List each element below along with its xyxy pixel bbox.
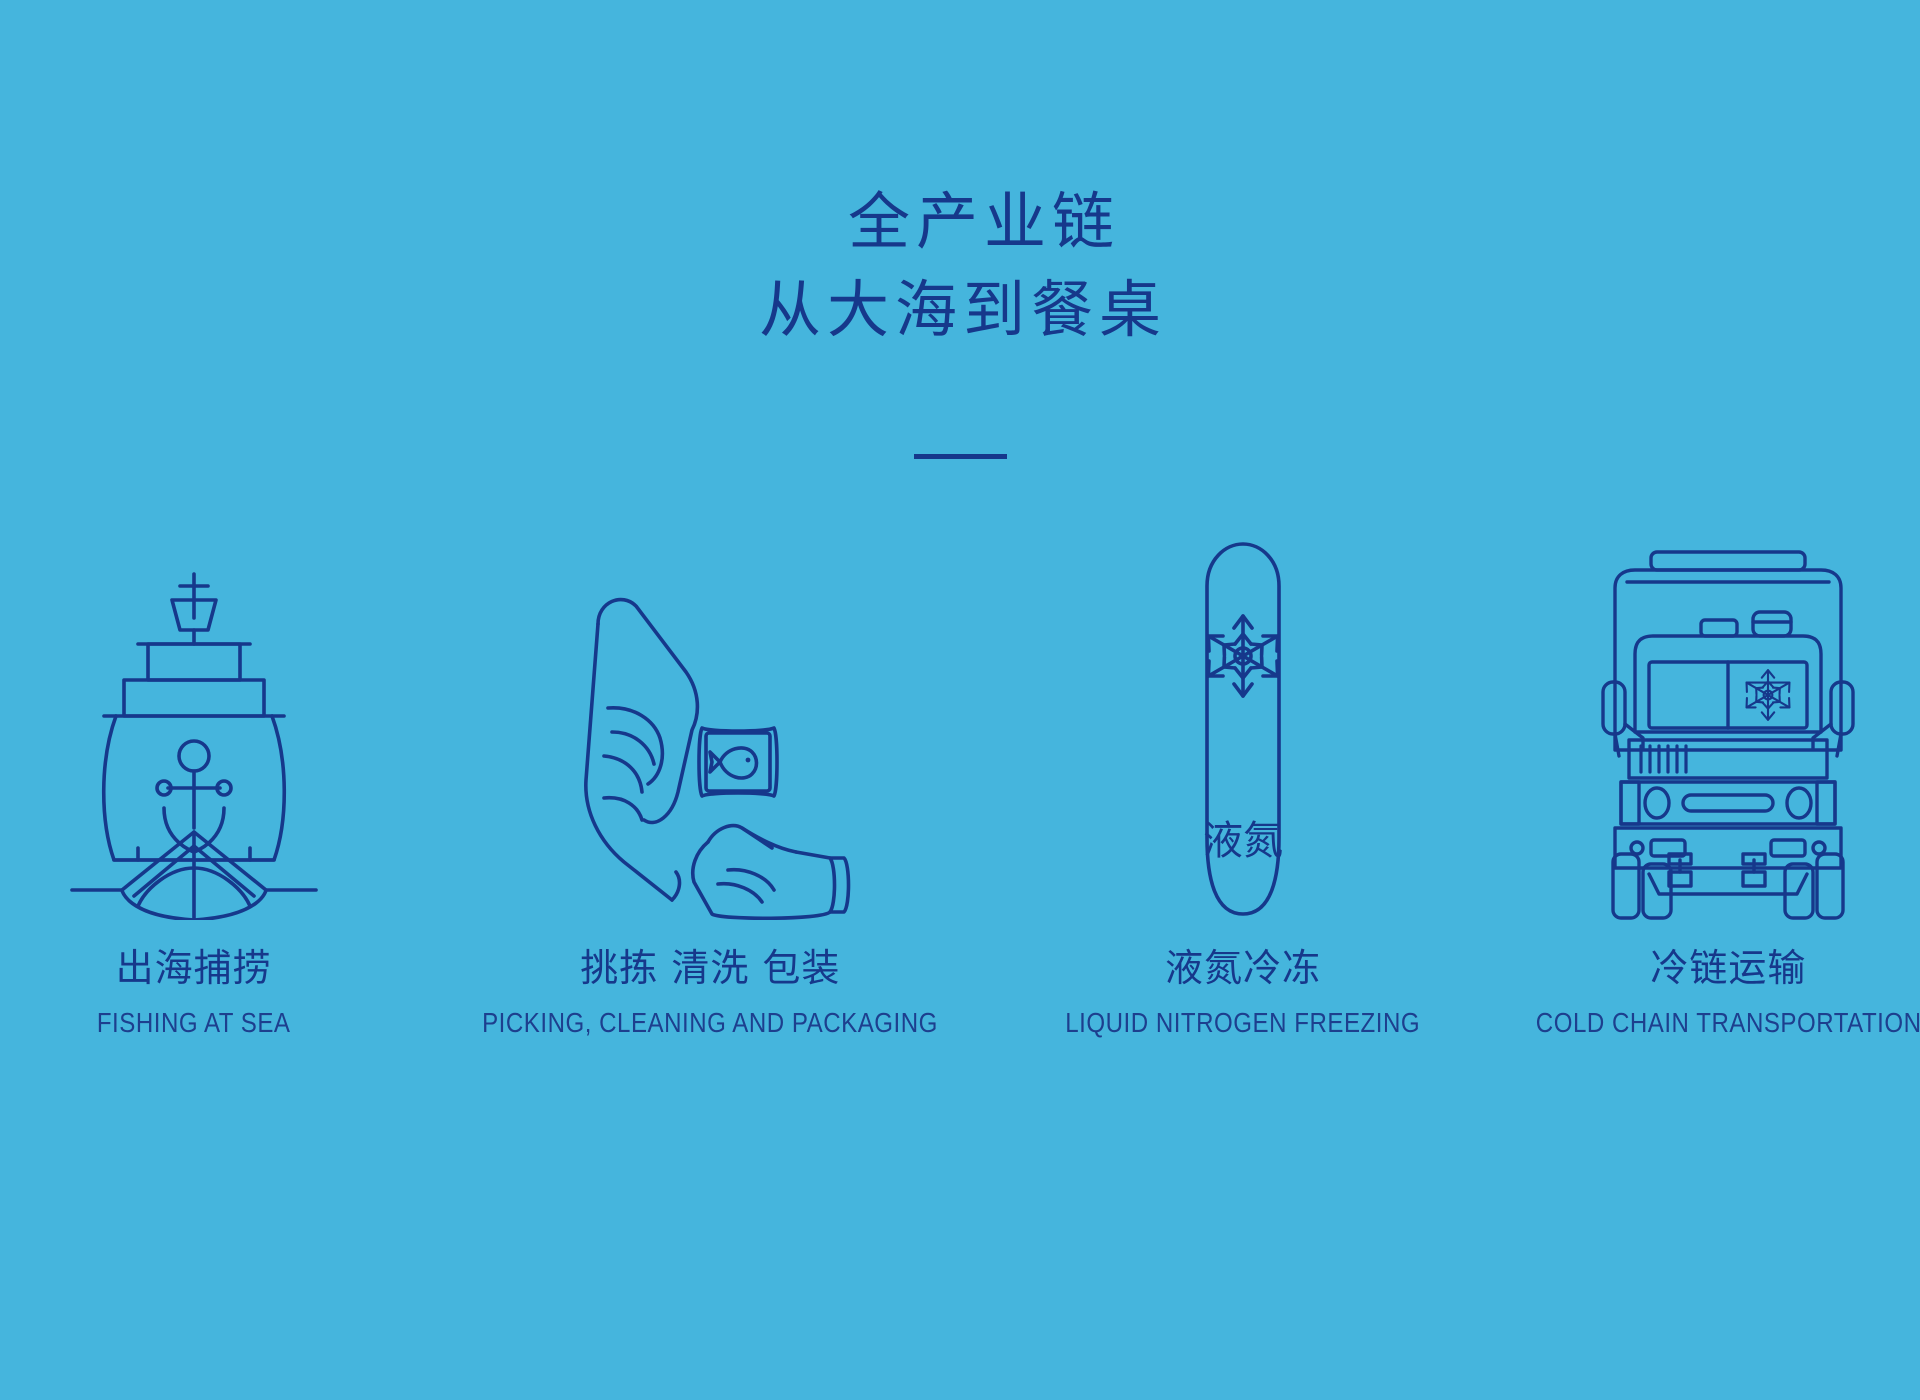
infographic-canvas: 全产业链 从大海到餐桌: [0, 0, 1920, 1400]
step-labels: 冷链运输 COLD CHAIN TRANSPORTATION: [1497, 946, 1920, 1039]
step-title-cn: 挑拣 清洗 包装: [445, 946, 975, 992]
title-divider-wrapper: [0, 454, 1920, 459]
step-title-en: PICKING, CLEANING AND PACKAGING: [482, 1006, 938, 1040]
step-picking-cleaning-packaging[interactable]: 挑拣 清洗 包装 PICKING, CLEANING AND PACKAGING: [445, 520, 975, 1039]
step-fishing-at-sea[interactable]: 出海捕捞 FISHING AT SEA: [0, 520, 425, 1039]
step-title-en: LIQUID NITROGEN FREEZING: [1044, 1006, 1442, 1040]
step-title-cn: 液氮冷冻: [1011, 946, 1474, 992]
step-title-cn: 出海捕捞: [0, 946, 425, 992]
step-labels: 挑拣 清洗 包装 PICKING, CLEANING AND PACKAGING: [445, 946, 975, 1039]
step-labels: 液氮冷冻 LIQUID NITROGEN FREEZING: [1011, 946, 1474, 1039]
step-title-en: COLD CHAIN TRANSPORTATION: [1529, 1006, 1920, 1040]
snowflake-icon: [1208, 616, 1277, 696]
step-labels: 出海捕捞 FISHING AT SEA: [0, 946, 425, 1039]
process-steps: 出海捕捞 FISHING AT SEA: [0, 520, 1920, 1140]
snowflake-icon: [1747, 670, 1790, 720]
step-liquid-nitrogen-freezing[interactable]: 液氮 液氮冷冻 LIQUID NITROGEN FREEZING: [1011, 520, 1474, 1039]
title-line-secondary: 从大海到餐桌: [0, 266, 1920, 354]
title-divider: [914, 454, 1007, 459]
fishing-boat-icon: [64, 520, 324, 920]
refrigerated-truck-icon: [1593, 520, 1863, 920]
step-title-en: FISHING AT SEA: [0, 1006, 393, 1040]
step-cold-chain-transportation[interactable]: 冷链运输 COLD CHAIN TRANSPORTATION: [1497, 520, 1920, 1039]
step-title-cn: 冷链运输: [1497, 946, 1920, 992]
page-title: 全产业链 从大海到餐桌: [0, 178, 1920, 354]
tank-label: 液氮: [1203, 818, 1283, 864]
hands-with-packaged-fish-icon: [560, 520, 860, 920]
liquid-nitrogen-tank-icon: 液氮: [1153, 520, 1333, 920]
title-line-primary: 全产业链: [0, 178, 1920, 266]
